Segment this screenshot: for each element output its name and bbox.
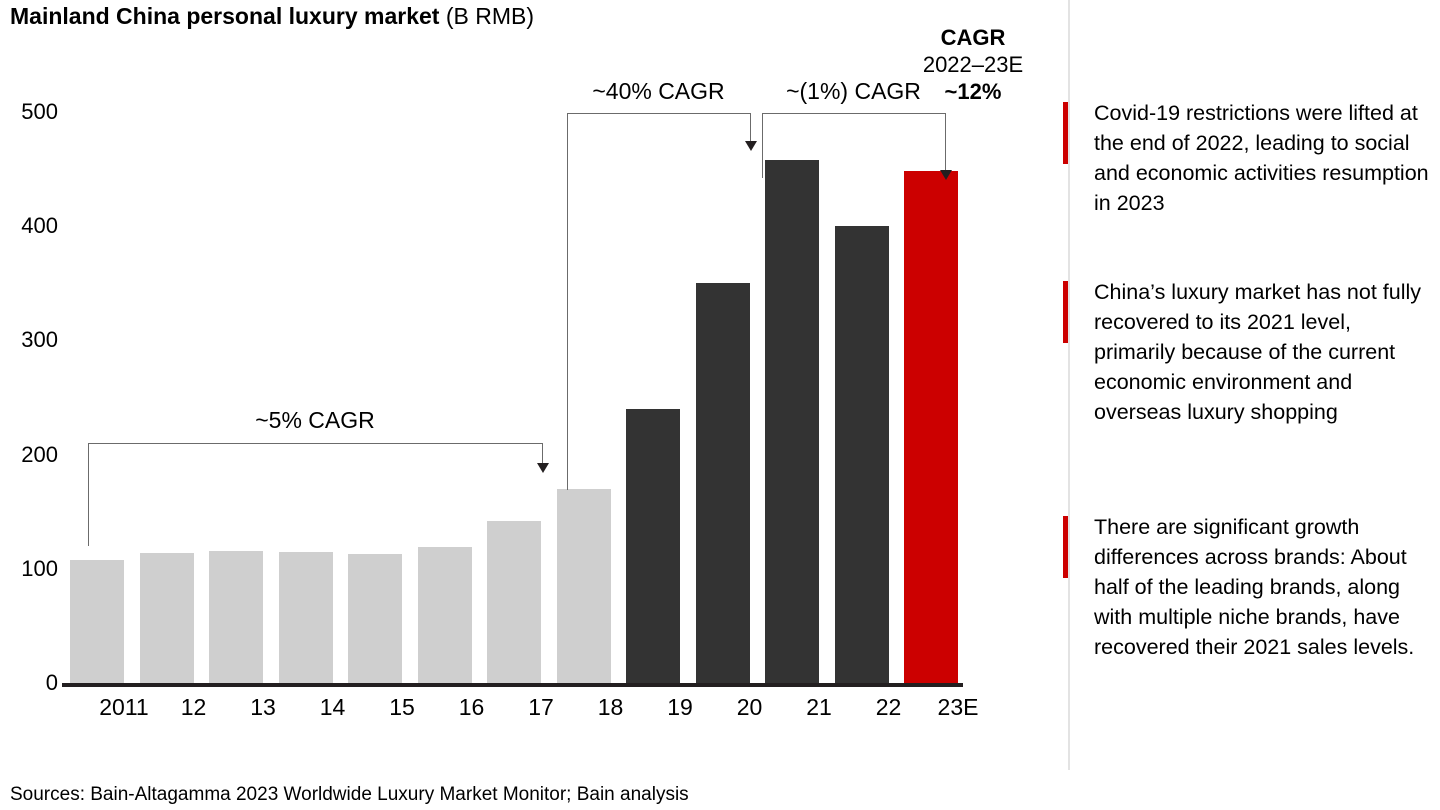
cagr-header: CAGR 2022–23E ~12% <box>898 24 1048 105</box>
x-axis-baseline <box>62 683 963 687</box>
cagr-bracket-label: ~40% CAGR <box>567 78 750 104</box>
bracket-top-line <box>567 113 750 114</box>
bar-2011 <box>70 560 124 683</box>
bracket-left-leg <box>567 113 568 490</box>
callout-text: There are significant growth differences… <box>1094 512 1435 662</box>
bar-19 <box>626 409 680 683</box>
callout-text: Covid-19 restrictions were lifted at the… <box>1094 98 1435 218</box>
y-axis-tick-label: 0 <box>6 672 58 694</box>
y-axis-tick-label: 200 <box>6 444 58 466</box>
bar-17 <box>487 521 541 683</box>
insight-callout-1: Covid-19 restrictions were lifted at the… <box>1063 98 1435 218</box>
bracket-right-leg <box>750 113 751 141</box>
bracket-arrowhead-icon <box>745 141 757 151</box>
bar-16 <box>418 547 472 683</box>
cagr-header-value: ~12% <box>898 78 1048 105</box>
bracket-top-line <box>762 113 945 114</box>
bracket-left-leg <box>88 443 89 546</box>
y-axis-tick-label: 300 <box>6 329 58 351</box>
cagr-header-label: CAGR <box>898 24 1048 51</box>
cagr-header-period: 2022–23E <box>898 51 1048 78</box>
callout-accent-bar <box>1063 281 1068 343</box>
y-axis-tick-label: 400 <box>6 215 58 237</box>
y-axis: 0100200300400500 <box>0 0 58 760</box>
plot-area: 2011121314151617181920212223E <box>62 0 962 760</box>
insight-callout-3: There are significant growth differences… <box>1063 512 1435 662</box>
y-axis-tick-label: 500 <box>6 101 58 123</box>
bracket-right-leg <box>945 113 946 170</box>
x-axis-tick-label: 23E <box>913 694 1003 720</box>
bracket-arrowhead-icon <box>940 170 952 180</box>
y-axis-tick-label: 100 <box>6 558 58 580</box>
insight-callout-2: China’s luxury market has not fully reco… <box>1063 277 1435 427</box>
callout-text: China’s luxury market has not fully reco… <box>1094 277 1435 427</box>
bar-23E <box>904 171 958 683</box>
callout-accent-bar <box>1063 102 1068 164</box>
bar-15 <box>348 554 402 683</box>
bracket-top-line <box>88 443 542 444</box>
bar-22 <box>835 226 889 683</box>
cagr-bracket-label: ~5% CAGR <box>88 407 542 433</box>
bracket-left-leg <box>762 113 763 178</box>
bar-14 <box>279 552 333 683</box>
bar-18 <box>557 489 611 683</box>
bar-21 <box>765 160 819 683</box>
source-note: Sources: Bain-Altagamma 2023 Worldwide L… <box>10 783 689 807</box>
bar-13 <box>209 551 263 683</box>
bracket-right-leg <box>542 443 543 463</box>
bar-chart: 0100200300400500 20111213141516171819202… <box>0 0 1060 760</box>
bracket-arrowhead-icon <box>537 463 549 473</box>
bar-12 <box>140 553 194 683</box>
bar-20 <box>696 283 750 683</box>
callout-accent-bar <box>1063 516 1068 578</box>
